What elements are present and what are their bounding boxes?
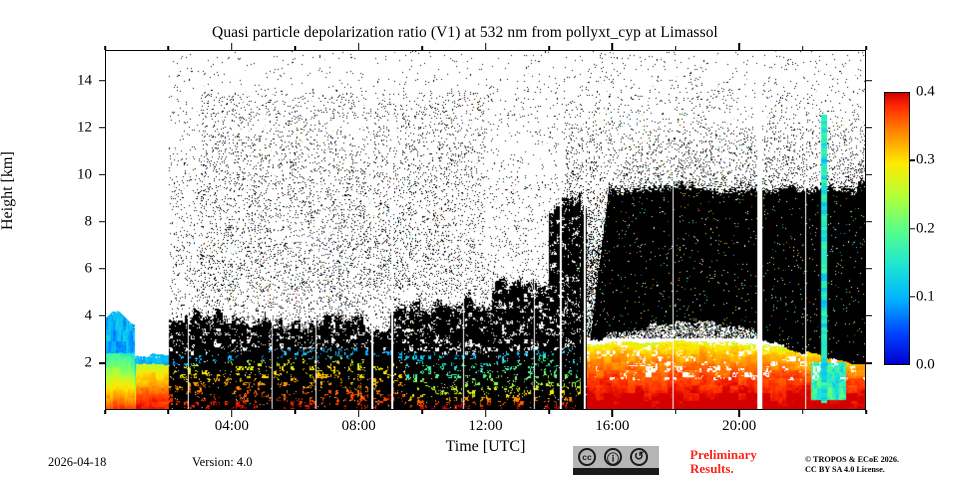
footer-version: Version: 4.0 [192, 455, 252, 470]
y-tick-label: 14 [77, 72, 92, 89]
plot-area[interactable] [105, 50, 866, 410]
y-tick-label: 12 [77, 119, 92, 136]
x-tickmark [104, 46, 106, 50]
colorbar-tick-label: 0.2 [916, 220, 935, 237]
y-tick-label: 6 [85, 260, 93, 277]
cc-badge-bottom: BY SA [573, 468, 659, 475]
colorbar-tick-label: 0.0 [916, 357, 935, 374]
cc-label: cc [578, 452, 596, 462]
x-tickmark [612, 43, 614, 50]
preliminary-line-1: Preliminary [690, 448, 800, 462]
y-tickmark [866, 80, 872, 82]
y-tick-label: 8 [85, 213, 93, 230]
x-tickmark [865, 410, 867, 414]
y-tickmark [99, 127, 105, 129]
x-tickmark [104, 410, 106, 414]
y-tickmark [99, 362, 105, 364]
colorbar-gradient [885, 93, 909, 364]
colorbar-tick-label: 0.4 [916, 84, 935, 101]
x-tickmark [802, 410, 804, 414]
y-tickmark [866, 221, 872, 223]
colorbar-tickmark [910, 228, 915, 229]
x-tickmark [421, 46, 423, 50]
y-tickmark [866, 127, 872, 129]
footer-date: 2026-04-18 [48, 455, 106, 470]
y-tickmark [99, 80, 105, 82]
y-tickmark [866, 315, 872, 317]
x-tickmark [421, 410, 423, 414]
x-tickmark [738, 43, 740, 50]
x-tickmark [675, 410, 677, 414]
y-tickmark [99, 315, 105, 317]
y-axis-label: Height [km] [0, 151, 17, 230]
y-tickmark [99, 221, 105, 223]
x-tickmark [294, 46, 296, 50]
x-tickmark [485, 43, 487, 50]
copyright-line-2: CC BY SA 4.0 License. [805, 465, 899, 475]
x-tick-label: 20:00 [722, 418, 756, 435]
colorbar-tickmark [910, 296, 915, 297]
preliminary-notice: Preliminary Results. [690, 448, 800, 476]
cc-badge-top: cc ⓘ ↺ [573, 446, 659, 468]
cc-license-badge[interactable]: cc ⓘ ↺ BY SA [573, 446, 659, 475]
y-tickmark [99, 174, 105, 176]
x-tickmark [802, 46, 804, 50]
x-tick-label: 16:00 [595, 418, 629, 435]
y-tickmark [866, 174, 872, 176]
colorbar-tickmark [910, 160, 915, 161]
x-tick-label: 12:00 [468, 418, 502, 435]
x-tickmark [548, 46, 550, 50]
x-tick-label: 04:00 [215, 418, 249, 435]
x-tickmark [358, 410, 360, 417]
y-tickmark [866, 268, 872, 270]
x-tickmark [231, 43, 233, 50]
y-tick-label: 10 [77, 166, 92, 183]
x-tickmark [294, 410, 296, 414]
x-tickmark [231, 410, 233, 417]
x-tickmark [485, 410, 487, 417]
x-tickmark [675, 46, 677, 50]
colorbar [884, 92, 910, 365]
cc-sa-label: SA [630, 490, 648, 497]
x-tickmark [548, 410, 550, 414]
cc-by-label: BY [604, 490, 622, 497]
page-title: Quasi particle depolarization ratio (V1)… [0, 24, 930, 42]
y-tick-label: 2 [85, 354, 93, 371]
preliminary-line-2: Results. [690, 462, 800, 476]
x-tickmark [612, 410, 614, 417]
y-tickmark [99, 268, 105, 270]
copyright-line-1: © TROPOS & ECoE 2026. [805, 455, 899, 465]
x-tickmark [865, 46, 867, 50]
copyright-notice: © TROPOS & ECoE 2026. CC BY SA 4.0 Licen… [805, 455, 899, 475]
person-icon: ⓘ [604, 450, 622, 467]
x-tickmark [168, 410, 170, 414]
colorbar-tick-label: 0.3 [916, 152, 935, 169]
x-tickmark [168, 46, 170, 50]
x-tickmark [358, 43, 360, 50]
y-tickmark [866, 362, 872, 364]
x-tick-label: 08:00 [342, 418, 376, 435]
y-tick-label: 4 [85, 307, 93, 324]
colorbar-tick-label: 0.1 [916, 288, 935, 305]
quicklook-figure: Quasi particle depolarization ratio (V1)… [0, 0, 960, 480]
heatmap-canvas [106, 51, 865, 409]
x-tickmark [738, 410, 740, 417]
share-alike-icon: ↺ [630, 449, 648, 463]
